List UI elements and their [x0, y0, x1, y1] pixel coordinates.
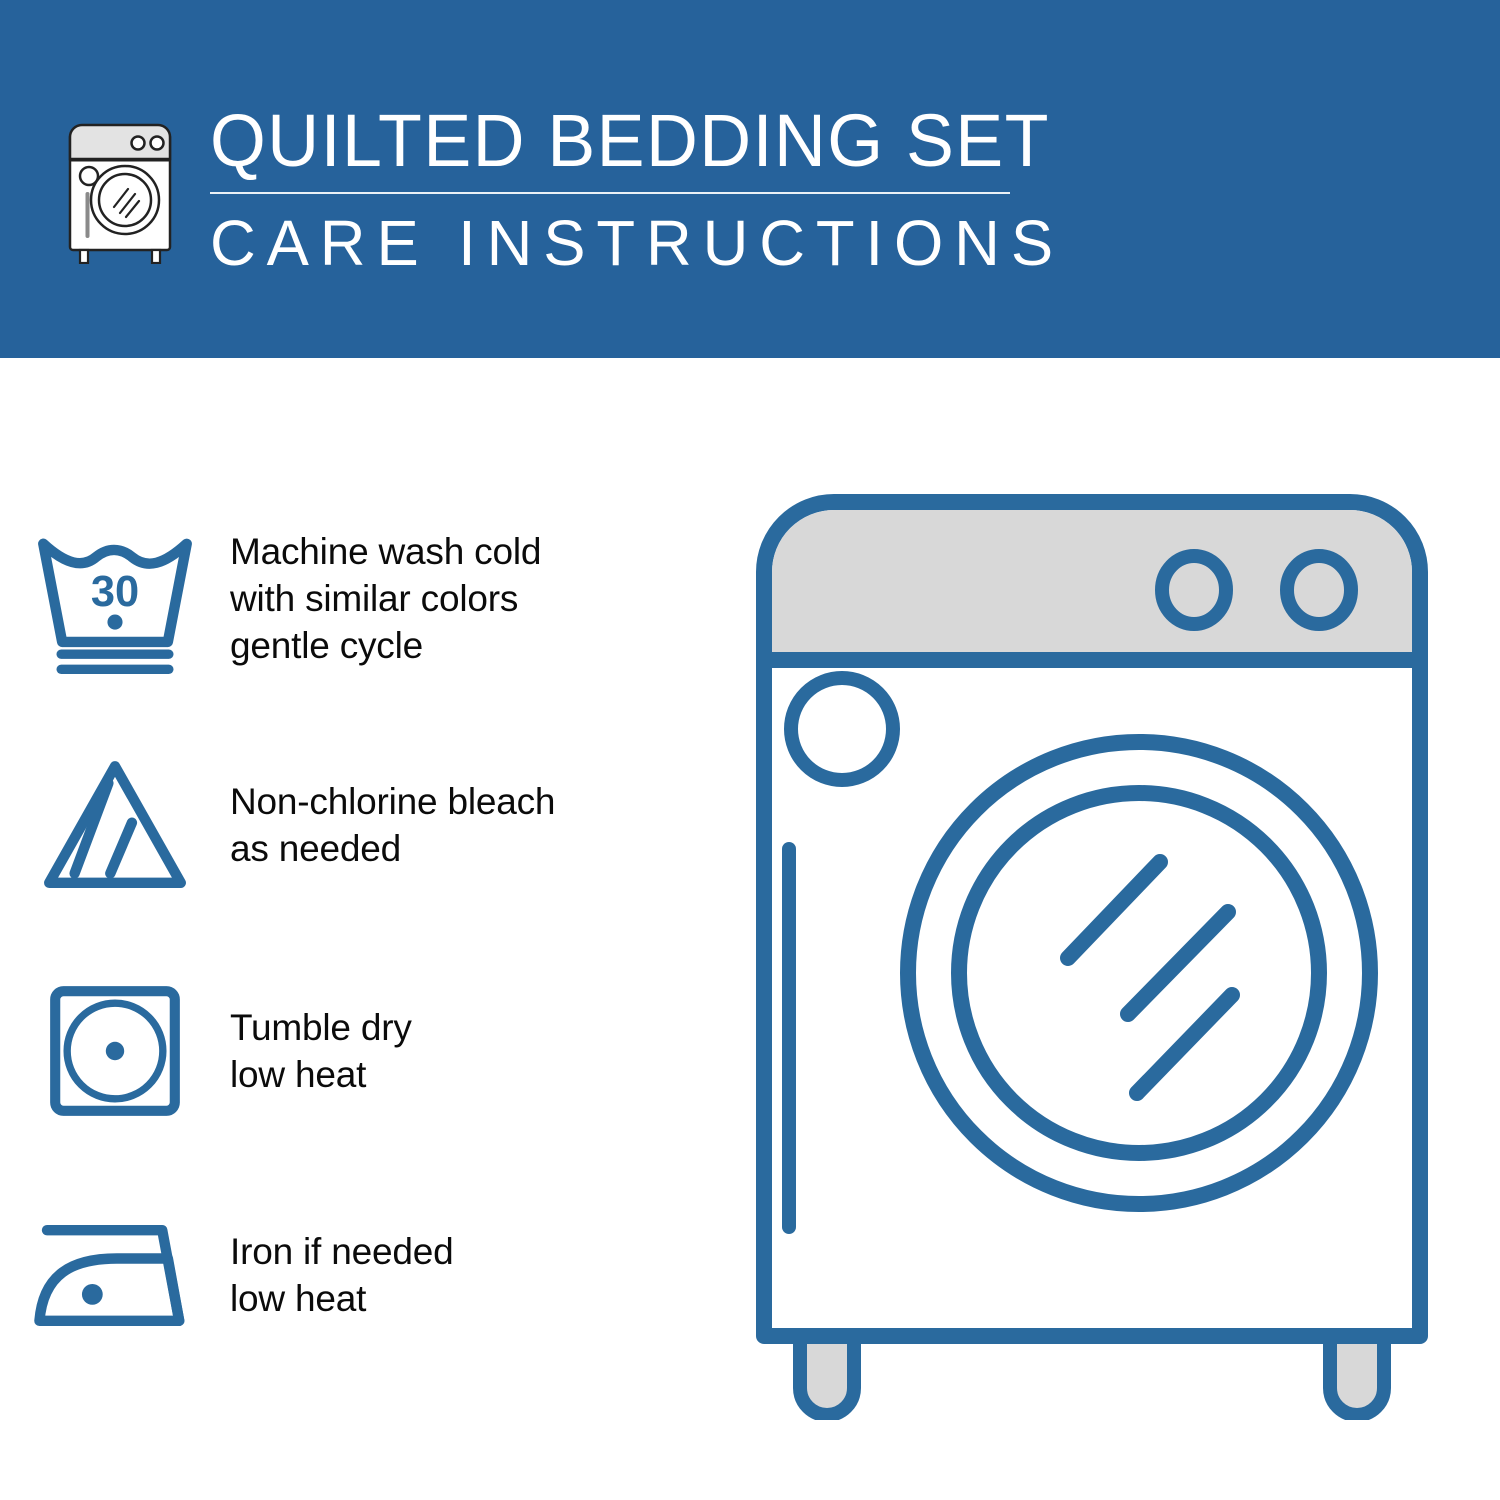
non-chlorine-bleach-icon — [0, 755, 230, 896]
front-load-washing-machine-illustration — [742, 480, 1442, 1420]
washing-machine-icon — [62, 104, 184, 264]
iron-low-heat-icon — [0, 1214, 230, 1337]
care-instruction-row: 30 Machine wash cold with similar colors… — [0, 508, 740, 688]
care-instruction-row: Tumble dry low heat — [0, 966, 740, 1136]
header-banner: QUILTED BEDDING SET CARE INSTRUCTIONS — [0, 0, 1500, 358]
page-title: QUILTED BEDDING SET — [210, 100, 1005, 182]
care-instruction-row: Non-chlorine bleach as needed — [0, 740, 740, 910]
machine-wash-30-gentle-icon: 30 — [0, 523, 230, 674]
care-instruction-label: Tumble dry low heat — [230, 1004, 412, 1098]
header-title-block: QUILTED BEDDING SET CARE INSTRUCTIONS — [210, 100, 1030, 280]
care-instruction-label: Iron if needed low heat — [230, 1228, 453, 1322]
page-subtitle: CARE INSTRUCTIONS — [210, 206, 1022, 280]
tumble-dry-low-icon — [0, 982, 230, 1120]
title-divider — [210, 192, 1010, 194]
wash-temperature-label: 30 — [91, 568, 139, 616]
care-instruction-label: Machine wash cold with similar colors ge… — [230, 528, 541, 669]
care-instruction-list: 30 Machine wash cold with similar colors… — [0, 358, 740, 1500]
care-instruction-row: Iron if needed low heat — [0, 1190, 740, 1360]
care-instruction-label: Non-chlorine bleach as needed — [230, 778, 555, 872]
